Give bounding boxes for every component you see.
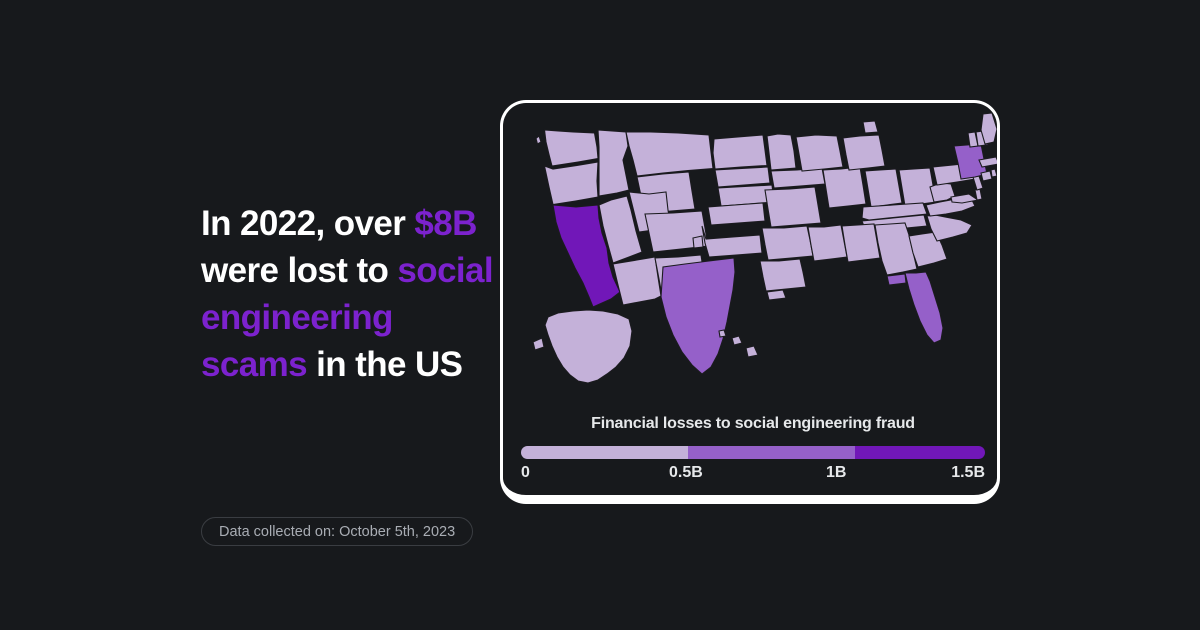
state-la (760, 259, 806, 300)
infographic-canvas: In 2022, over $8B were lost to social en… (0, 0, 1200, 630)
headline-text-1: In 2022, over (201, 204, 414, 243)
legend-tick-1: 0.5B (669, 464, 703, 482)
state-ri (991, 169, 997, 177)
state-in (865, 169, 902, 207)
us-states-map (503, 107, 1000, 407)
headline-text-3: in the US (307, 345, 462, 384)
legend-tick-2: 1B (826, 464, 846, 482)
headline-accent-engineering: engineering (201, 298, 393, 337)
state-al (842, 224, 880, 262)
map-card: Financial losses to social engineering f… (500, 100, 1000, 504)
data-collected-label: Data collected on: October 5th, 2023 (219, 524, 455, 540)
state-me (981, 113, 997, 144)
state-mt (626, 132, 713, 176)
legend-title: Financial losses to social engineering f… (503, 415, 1000, 433)
headline-accent-amount: $8B (414, 204, 476, 243)
state-tx (661, 258, 735, 374)
state-or (545, 162, 599, 205)
state-ct (981, 171, 992, 181)
headline-text-2: were lost to (201, 251, 397, 290)
state-il (823, 167, 866, 208)
state-wi (796, 135, 843, 171)
page-title: In 2022, over $8B were lost to social en… (201, 200, 501, 388)
state-mo (765, 187, 821, 227)
state-nd (713, 135, 767, 169)
legend-tick-3: 1.5B (951, 464, 985, 482)
state-ks (708, 203, 765, 225)
state-nj (973, 176, 983, 190)
legend-band-0 (521, 446, 688, 459)
state-hi (719, 330, 758, 357)
state-sd (715, 167, 770, 187)
legend-band-1 (688, 446, 855, 459)
state-wa (536, 130, 598, 166)
state-fl (887, 272, 943, 343)
state-ms (808, 225, 847, 261)
state-id (598, 130, 629, 196)
state-mn (767, 134, 796, 170)
legend-tick-labels: 0 0.5B 1B 1.5B (521, 464, 985, 484)
legend-color-bar (521, 446, 985, 459)
headline-accent-scams: scams (201, 345, 307, 384)
headline-accent-social: social (397, 251, 493, 290)
state-ga (875, 223, 917, 275)
state-mi (843, 121, 885, 170)
map-legend: Financial losses to social engineering f… (503, 415, 1000, 484)
choropleth-map (503, 107, 1000, 407)
legend-tick-0: 0 (521, 464, 530, 482)
legend-band-2 (855, 446, 985, 459)
state-az (613, 257, 661, 305)
data-collected-badge: Data collected on: October 5th, 2023 (201, 517, 473, 546)
state-ak (533, 310, 632, 383)
state-ar (762, 226, 813, 260)
state-ia (771, 168, 825, 188)
